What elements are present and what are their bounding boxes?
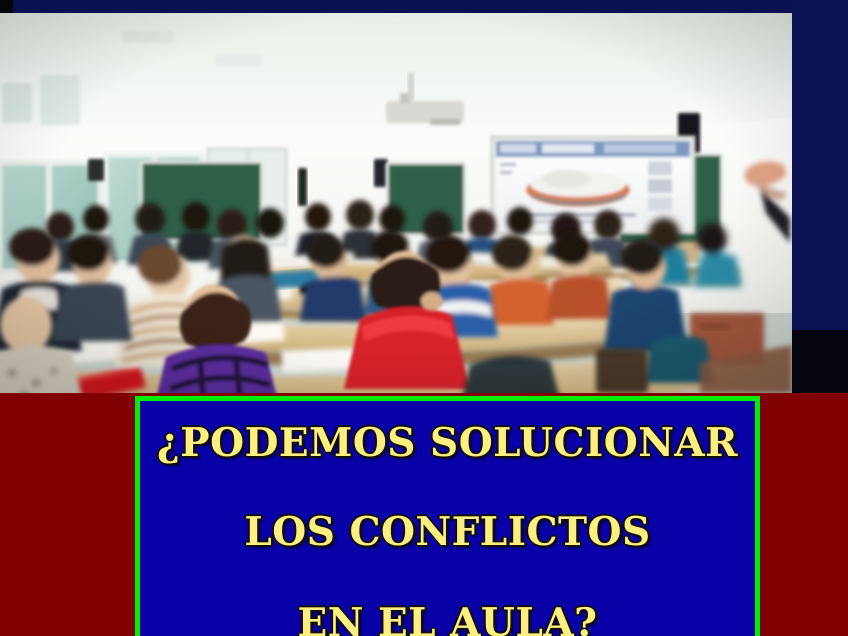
title-line-2: LOS CONFLICTOS xyxy=(140,512,755,553)
classroom-photo-illustration xyxy=(0,13,792,393)
right-border-dark-segment xyxy=(792,330,848,394)
top-left-black-notch xyxy=(0,0,13,14)
classroom-photo xyxy=(0,13,792,393)
title-line-1: ¿PODEMOS SOLUCIONAR xyxy=(140,423,755,464)
title-text-box: ¿PODEMOS SOLUCIONAR LOS CONFLICTOS EN EL… xyxy=(135,396,760,636)
presentation-slide: ¿PODEMOS SOLUCIONAR LOS CONFLICTOS EN EL… xyxy=(0,0,848,636)
top-border-band xyxy=(0,0,848,14)
title-line-3: EN EL AULA? xyxy=(140,603,755,636)
